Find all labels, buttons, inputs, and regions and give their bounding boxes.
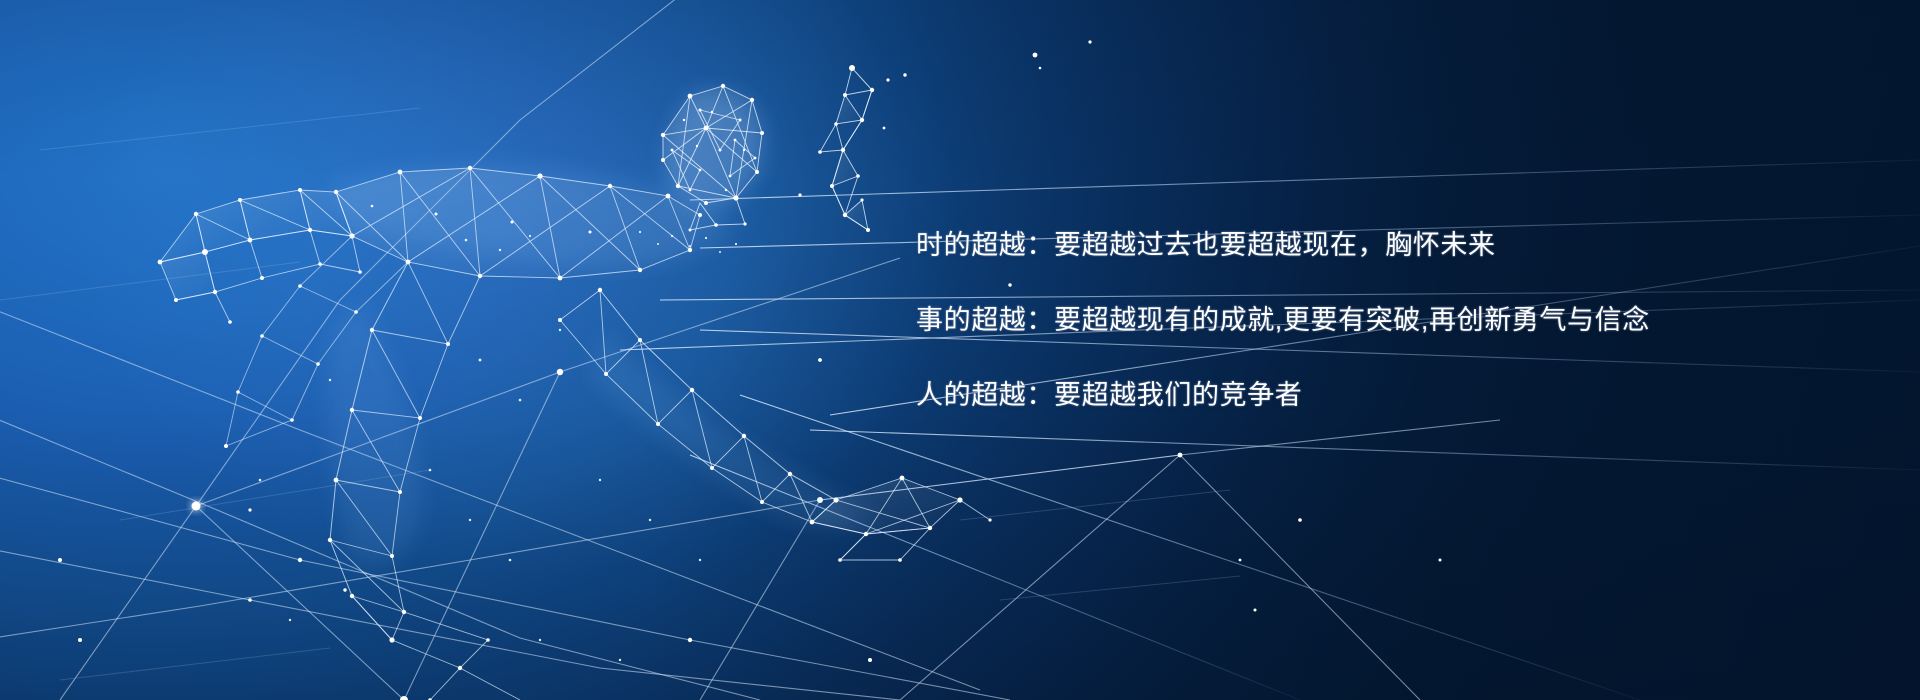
hero-banner: 时的超越：要超越过去也要超越现在，胸怀未来 事的超越：要超越现有的成就,更要有突… [0, 0, 1920, 700]
tagline-work: 事的超越：要超越现有的成就,更要有突破,再创新勇气与信念 [916, 307, 1836, 334]
tagline-people: 人的超越：要超越我们的竞争者 [916, 382, 1836, 409]
tagline-time: 时的超越：要超越过去也要超越现在，胸怀未来 [916, 232, 1836, 259]
tagline-block: 时的超越：要超越过去也要超越现在，胸怀未来 事的超越：要超越现有的成就,更要有突… [916, 232, 1836, 409]
